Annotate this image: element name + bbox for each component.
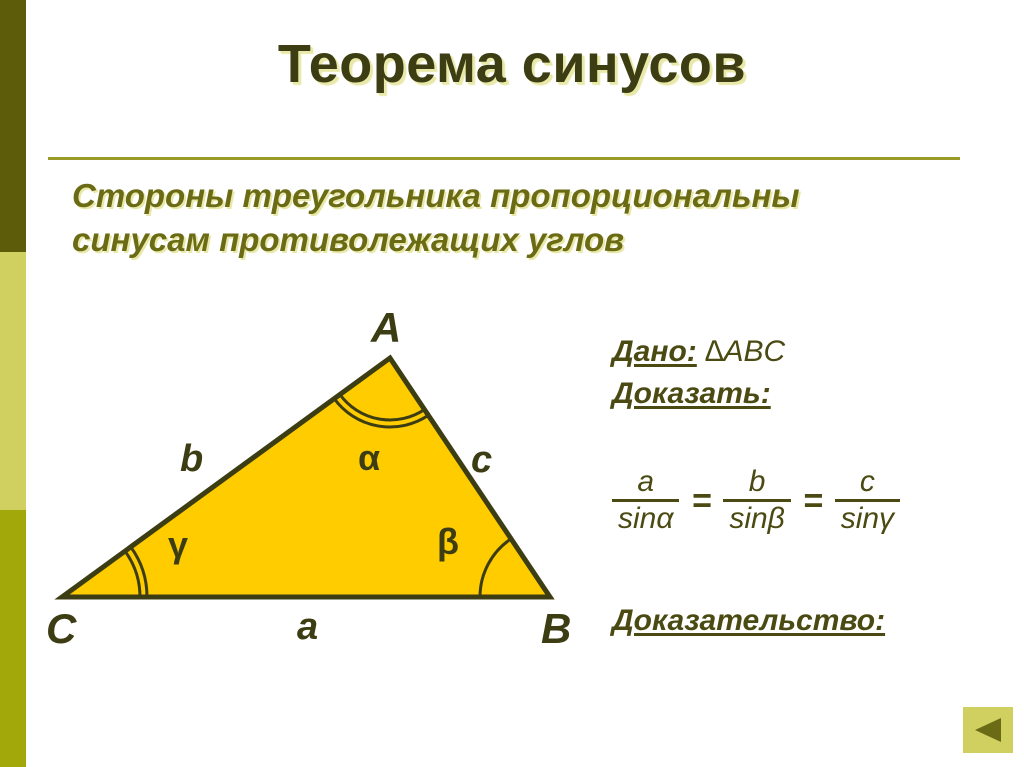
theorem-statement: Стороны треугольника пропорциональны син… xyxy=(72,174,1002,262)
prove-row: Доказать: xyxy=(612,374,1012,414)
page-title: Теорема синусов xyxy=(0,33,1024,95)
side-label-c: c xyxy=(471,441,492,479)
fraction-b-over-sin-beta: b sinβ xyxy=(723,466,791,534)
side-label-a: a xyxy=(297,608,318,646)
decorative-sidebar xyxy=(0,0,26,767)
proof-column: Дано: ∆ABC Доказать: xyxy=(612,332,1012,420)
side-label-b: b xyxy=(180,440,203,478)
back-triangle-icon xyxy=(973,716,1003,744)
vertex-label-c: C xyxy=(46,608,76,650)
theorem-statement-line-1: Стороны треугольника пропорциональны xyxy=(72,174,1002,218)
numerator-a: a xyxy=(627,466,664,499)
given-value: ∆ABC xyxy=(705,335,785,368)
given-label: Дано: xyxy=(612,335,697,368)
vertex-label-b: B xyxy=(541,608,571,650)
fraction-c-over-sin-gamma: c sinγ xyxy=(835,466,900,534)
denominator-sin-beta: sinβ xyxy=(723,502,791,535)
angle-label-alpha: α xyxy=(358,440,380,476)
law-of-sines-formula: a sinα = b sinβ = c sinγ xyxy=(612,466,992,534)
theorem-statement-line-2: синусам противолежащих углов xyxy=(72,218,1002,262)
equals-sign-1: = xyxy=(679,482,723,521)
numerator-b: b xyxy=(739,466,776,499)
fraction-a-over-sin-alpha: a sinα xyxy=(612,466,679,534)
denominator-sin-alpha: sinα xyxy=(612,502,679,535)
proof-heading: Доказательство: xyxy=(612,604,885,638)
equals-sign-2: = xyxy=(791,482,835,521)
numerator-c: c xyxy=(850,466,885,499)
sidebar-segment-middle xyxy=(0,252,26,510)
prove-label: Доказать: xyxy=(612,377,771,410)
sidebar-segment-bottom xyxy=(0,510,26,767)
angle-label-gamma: γ xyxy=(168,527,188,563)
triangle-figure: A B C a b c α β γ xyxy=(30,300,600,670)
angle-label-beta: β xyxy=(437,524,459,560)
slide-root: Теорема синусов Стороны треугольника про… xyxy=(0,0,1024,767)
given-row: Дано: ∆ABC xyxy=(612,332,1012,372)
header-divider xyxy=(48,157,960,160)
previous-slide-button[interactable] xyxy=(963,707,1013,753)
vertex-label-a: A xyxy=(371,307,401,349)
denominator-sin-gamma: sinγ xyxy=(835,502,900,535)
